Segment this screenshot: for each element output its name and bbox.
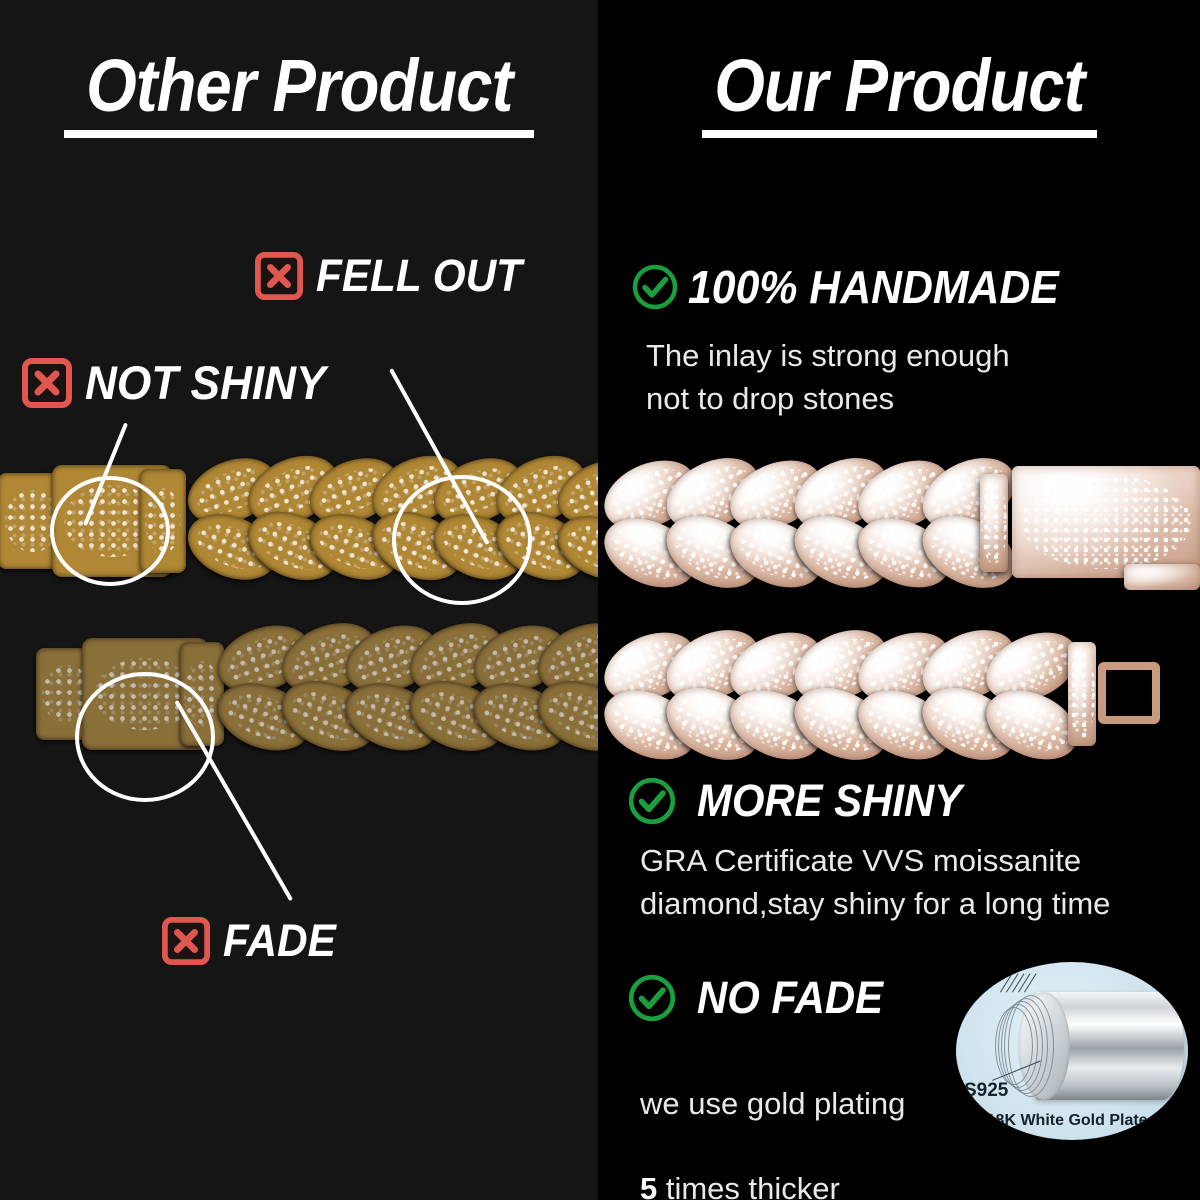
feature-no-fade: NO FADE (626, 972, 897, 1024)
annotation-circle-not-shiny (50, 476, 170, 586)
feature-more-shiny: MORE SHINY (626, 775, 982, 827)
check-circle-icon (630, 262, 680, 312)
check-circle-icon (626, 972, 678, 1024)
no-fade-body-line2: times thicker (657, 1171, 840, 1200)
feature-body-more-shiny: GRA Certificate VVS moissanite diamond,s… (640, 840, 1200, 926)
feature-label-handmade: 100% HANDMADE (688, 260, 1059, 314)
feature-not-shiny: NOT SHINY (22, 355, 341, 410)
x-mark-icon (162, 917, 210, 965)
feature-label-not-shiny: NOT SHINY (85, 355, 326, 410)
our-product-title: Our Product (710, 46, 1087, 126)
x-mark-icon (22, 358, 72, 408)
feature-fade: FADE (162, 915, 343, 967)
our-product-chain-top (612, 460, 1200, 588)
feature-label-more-shiny: MORE SHINY (697, 775, 962, 827)
feature-label-no-fade: NO FADE (697, 972, 883, 1024)
our-product-panel: Our Product 100% HANDMADE The inlay is s… (598, 0, 1200, 1200)
no-fade-body-line1: we use gold plating (640, 1086, 905, 1121)
plating-caption: 18K White Gold Plated (956, 1112, 1188, 1130)
plating-layer-ring (995, 1007, 1033, 1085)
feature-label-fell-out: FELL OUT (316, 250, 522, 302)
check-circle-icon (626, 775, 678, 827)
other-product-title-underline (64, 130, 534, 138)
feature-handmade: 100% HANDMADE (630, 260, 1087, 314)
feature-body-no-fade: we use gold plating 5 times thicker (640, 1040, 980, 1200)
buckle-loop (1098, 662, 1160, 724)
other-product-title-wrap: Other Product (0, 46, 598, 138)
x-mark-icon (255, 252, 303, 300)
feature-fell-out: FELL OUT (255, 250, 535, 302)
feature-body-handmade: The inlay is strong enough not to drop s… (646, 335, 1166, 421)
other-product-title: Other Product (82, 46, 515, 126)
plating-badge: 1 2 3 4 5 S925 18K White Gold Plated (956, 962, 1188, 1140)
our-product-title-underline (702, 130, 1097, 138)
layer-callout-line (1024, 973, 1037, 992)
other-product-panel: Other Product (0, 0, 598, 1200)
our-product-chain-bottom (616, 632, 1196, 760)
product-comparison-board: Other Product (0, 0, 1200, 1200)
plating-material-label: S925 (964, 1080, 1008, 1102)
no-fade-thickness-value: 5 (640, 1171, 657, 1200)
feature-label-fade: FADE (223, 915, 336, 967)
our-product-title-wrap: Our Product (598, 46, 1200, 138)
